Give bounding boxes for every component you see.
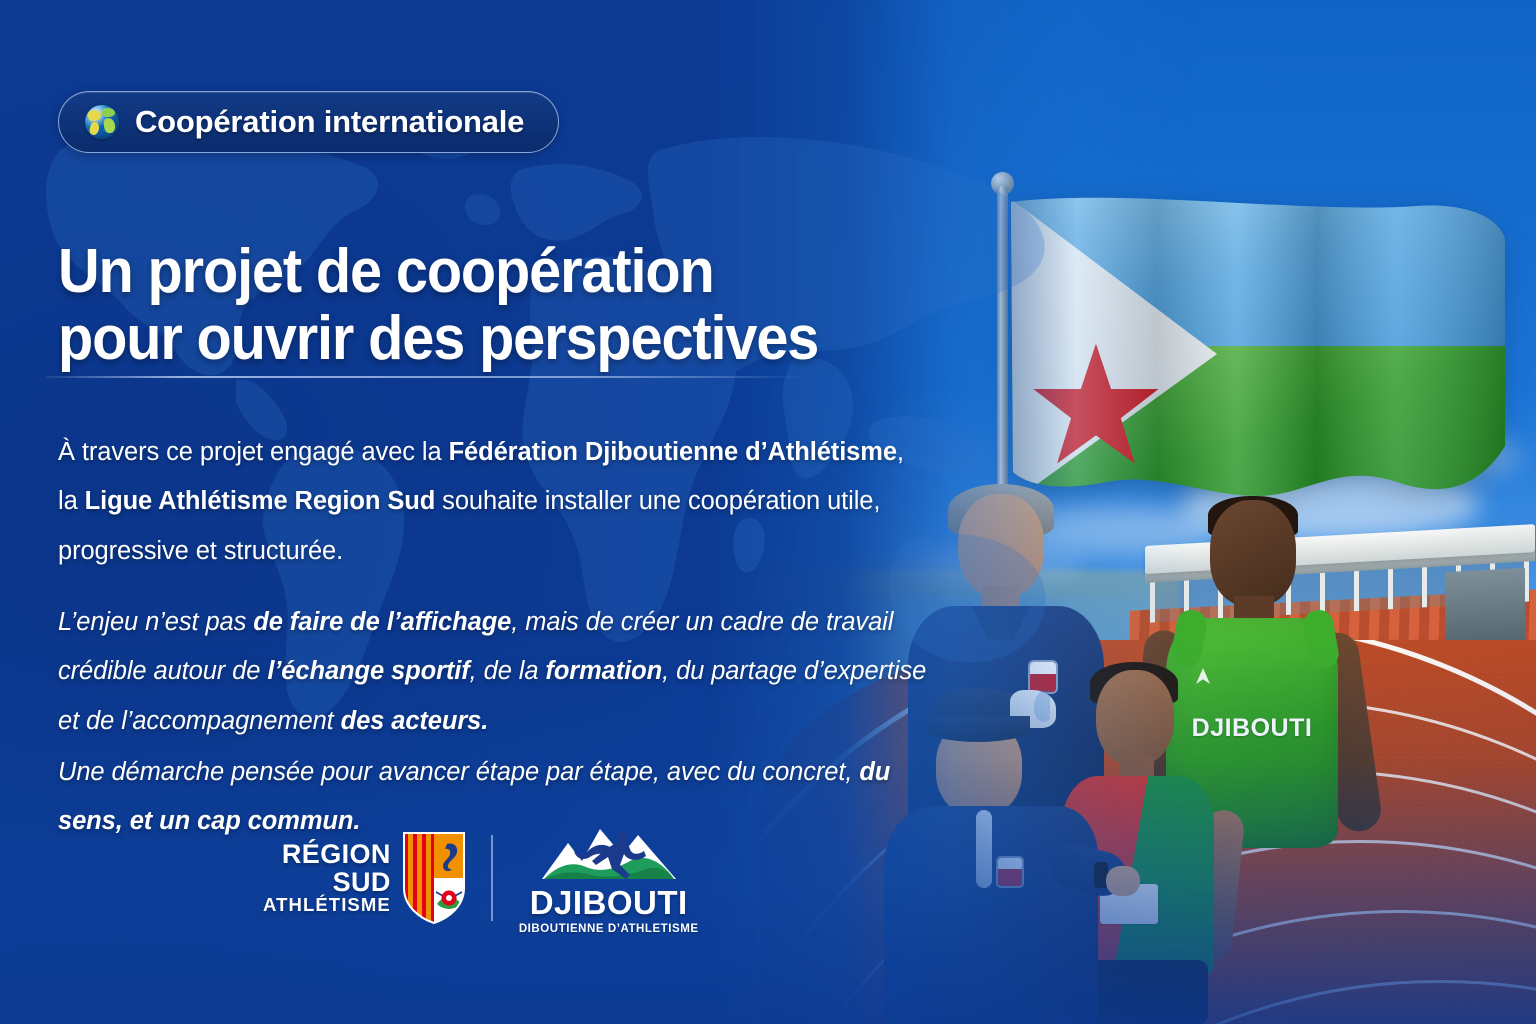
djibouti-subtitle: DIBOUTIENNE D’ATHLETISME xyxy=(519,923,699,935)
text-fragment: À travers ce projet engagé avec la xyxy=(58,438,449,466)
logo-djibouti-athletisme[interactable]: DJIBOUTI DIBOUTIENNE D’ATHLETISME xyxy=(519,821,699,935)
title-divider xyxy=(46,376,806,378)
poster-canvas: DJIBOUTI xyxy=(0,0,1536,1024)
provence-coat-of-arms-icon xyxy=(403,832,465,924)
text-fragment: L’enjeu n’est pas xyxy=(58,608,253,636)
text-emphasis-ligue: Ligue Athlétisme Region Sud xyxy=(85,487,436,515)
category-badge-label: Coopération internationale xyxy=(135,104,524,140)
logo-region-sud-athletisme[interactable]: RÉGION SUD ATHLÉTISME xyxy=(263,832,465,924)
text-fragment: Une démarche pensée pour avancer étape p… xyxy=(58,758,859,786)
logo-separator xyxy=(491,835,493,921)
text-content-column: Coopération internationale Un projet de … xyxy=(0,0,960,1024)
text-emphasis-acteurs: des acteurs. xyxy=(341,707,489,735)
category-badge[interactable]: Coopération internationale xyxy=(58,91,559,153)
page-title: Un projet de coopération pour ouvrir des… xyxy=(58,238,830,373)
partner-logos: RÉGION SUD ATHLÉTISME xyxy=(263,822,699,934)
region-sud-wordmark: RÉGION SUD ATHLÉTISME xyxy=(263,841,391,915)
paragraph-enjeu: L’enjeu n’est pas de faire de l’affichag… xyxy=(58,598,938,747)
region-sud-line-2: SUD xyxy=(263,869,391,897)
globe-icon xyxy=(85,105,119,139)
text-emphasis-federation: Fédération Djiboutienne d’Athlétisme xyxy=(449,438,897,466)
djibouti-wordmark: DJIBOUTI xyxy=(530,886,688,919)
text-emphasis-formation: formation xyxy=(545,657,662,685)
paragraph-intro: À travers ce projet engagé avec la Fédér… xyxy=(58,428,918,577)
text-fragment: , de la xyxy=(470,657,546,685)
text-emphasis-echange: l’échange sportif xyxy=(267,657,469,685)
region-sud-line-1: RÉGION xyxy=(263,841,391,869)
running-figure-mountain-icon xyxy=(538,821,680,885)
region-sud-line-3: ATHLÉTISME xyxy=(263,896,391,915)
text-emphasis-affichage: de faire de l’affichage xyxy=(253,608,511,636)
